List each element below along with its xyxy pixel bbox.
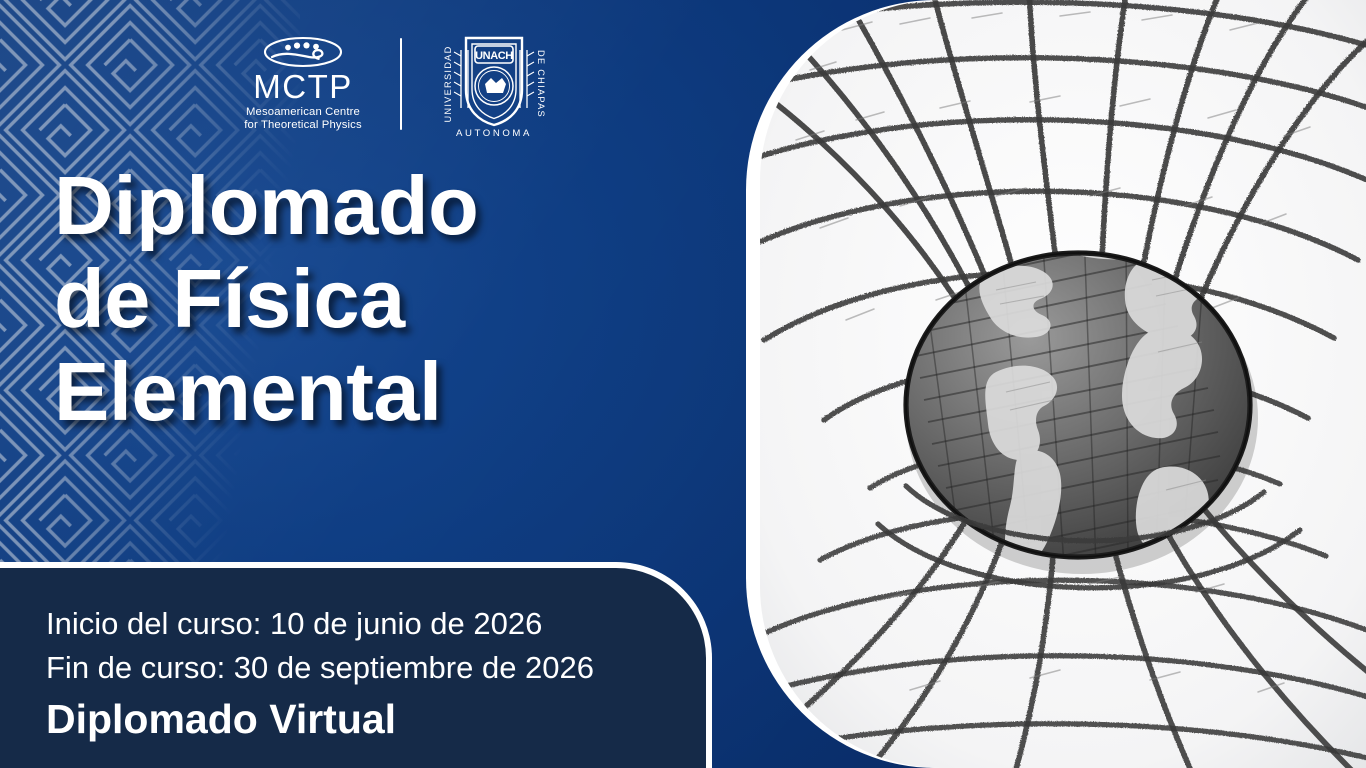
mctp-eye-wave-icon xyxy=(262,35,344,69)
course-info-content: Inicio del curso: 10 de junio de 2026 Fi… xyxy=(46,602,676,747)
mctp-wordmark: MCTP xyxy=(253,70,353,104)
mctp-subtitle-line1: Mesoamerican Centre xyxy=(246,106,360,120)
unach-seal-icon: UNIVERSIDAD DE CHIAPAS UNACH xyxy=(441,28,547,140)
svg-text:AUTONOMA: AUTONOMA xyxy=(456,128,532,139)
logo-divider xyxy=(400,38,402,130)
svg-text:UNACH: UNACH xyxy=(475,50,513,62)
artwork-panel xyxy=(746,0,1366,768)
course-start-date: Inicio del curso: 10 de junio de 2026 xyxy=(46,602,676,646)
title-line-2: de Física xyxy=(54,253,694,346)
svg-text:UNIVERSIDAD: UNIVERSIDAD xyxy=(443,45,453,122)
title-line-3: Elemental xyxy=(54,346,694,439)
artwork-clip xyxy=(760,0,1366,768)
poster-canvas: MCTP Mesoamerican Centre for Theoretical… xyxy=(0,0,1366,768)
mctp-logo[interactable]: MCTP Mesoamerican Centre for Theoretical… xyxy=(228,35,378,133)
svg-text:DE CHIAPAS: DE CHIAPAS xyxy=(536,50,546,118)
mctp-subtitle-line2: for Theoretical Physics xyxy=(244,119,362,133)
poster-title: Diplomado de Física Elemental xyxy=(54,160,694,439)
course-modality: Diplomado Virtual xyxy=(46,692,676,747)
spacetime-curvature-earth-illustration xyxy=(760,0,1366,768)
title-line-1: Diplomado xyxy=(54,160,694,253)
unach-logo[interactable]: UNIVERSIDAD DE CHIAPAS UNACH xyxy=(438,28,550,140)
course-info-panel: Inicio del curso: 10 de junio de 2026 Fi… xyxy=(0,562,712,768)
course-end-date: Fin de curso: 30 de septiembre de 2026 xyxy=(46,646,676,690)
logo-row: MCTP Mesoamerican Centre for Theoretical… xyxy=(228,28,550,140)
